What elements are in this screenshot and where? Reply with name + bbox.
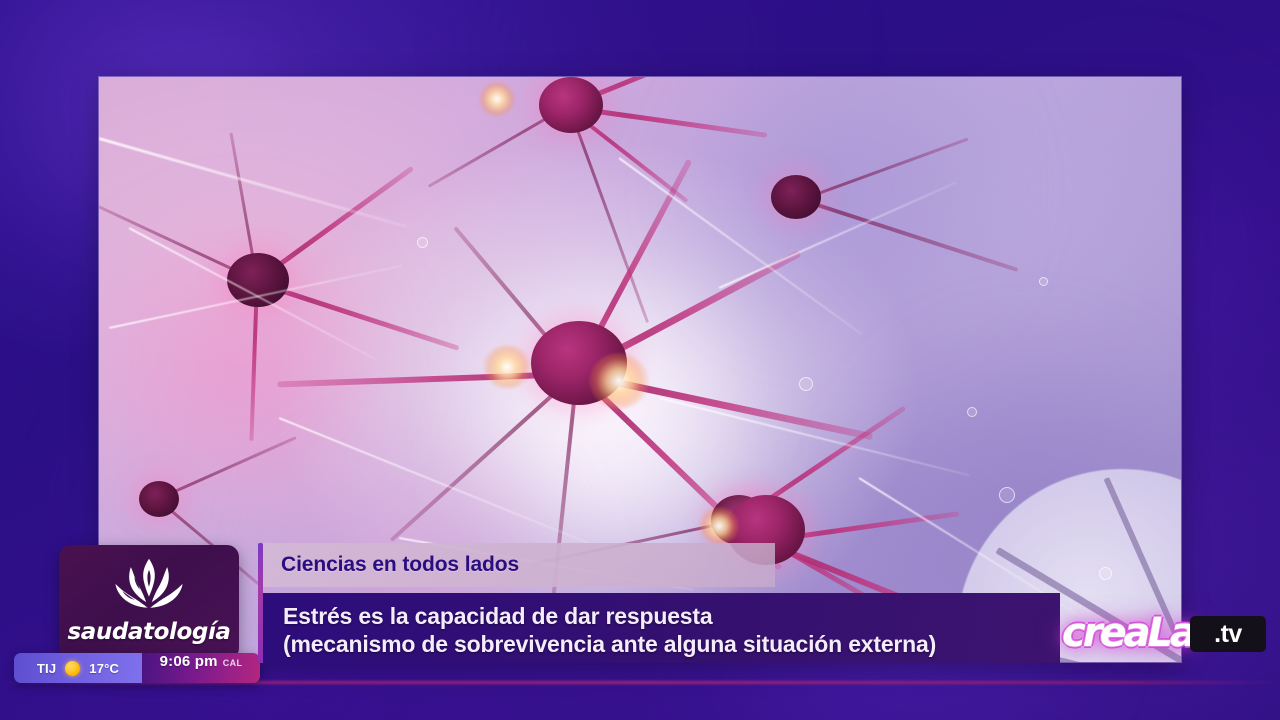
synapse-glow	[699, 507, 739, 545]
channel-tld-box: .tv	[1190, 616, 1266, 652]
vesicle	[417, 237, 428, 248]
vesicle	[999, 487, 1015, 503]
status-bar[interactable]: TIJ 17°C 9:06 pm CAL	[14, 653, 260, 683]
weather-segment[interactable]: TIJ 17°C	[14, 653, 142, 683]
channel-logo[interactable]: creaLa .tv	[1062, 608, 1266, 660]
sun-icon	[65, 661, 80, 676]
temperature-value: 17°C	[89, 661, 119, 676]
program-brand-box[interactable]: saudatología	[59, 545, 239, 660]
channel-wordmark: creaLa	[1062, 610, 1194, 656]
caption-band: Estrés es la capacidad de dar respuesta …	[263, 593, 1060, 663]
synapse-glow	[589, 353, 649, 409]
kicker-text: Ciencias en todos lados	[281, 553, 519, 577]
neuron-soma	[771, 175, 821, 219]
neuron-soma	[139, 481, 179, 517]
caption-line-2: (mecanismo de sobrevivencia ante alguna …	[283, 630, 1060, 658]
timezone-label: CAL	[223, 658, 243, 668]
vesicle	[1099, 567, 1112, 580]
synapse-glow	[479, 81, 515, 117]
neuron-soma	[539, 77, 603, 133]
vesicle	[967, 407, 977, 417]
synapse-glow	[483, 345, 531, 389]
kicker-band: Ciencias en todos lados	[263, 543, 775, 587]
brand-name: saudatología	[67, 619, 230, 645]
lotus-flower-icon	[107, 555, 191, 617]
clock-value: 9:06 pm	[160, 653, 218, 670]
time-segment[interactable]: 9:06 pm CAL	[142, 653, 260, 683]
vesicle	[1039, 277, 1048, 286]
caption-line-1: Estrés es la capacidad de dar respuesta	[283, 602, 1060, 630]
vesicle	[799, 377, 813, 391]
channel-tld-text: .tv	[1214, 620, 1242, 649]
city-code: TIJ	[37, 661, 56, 676]
